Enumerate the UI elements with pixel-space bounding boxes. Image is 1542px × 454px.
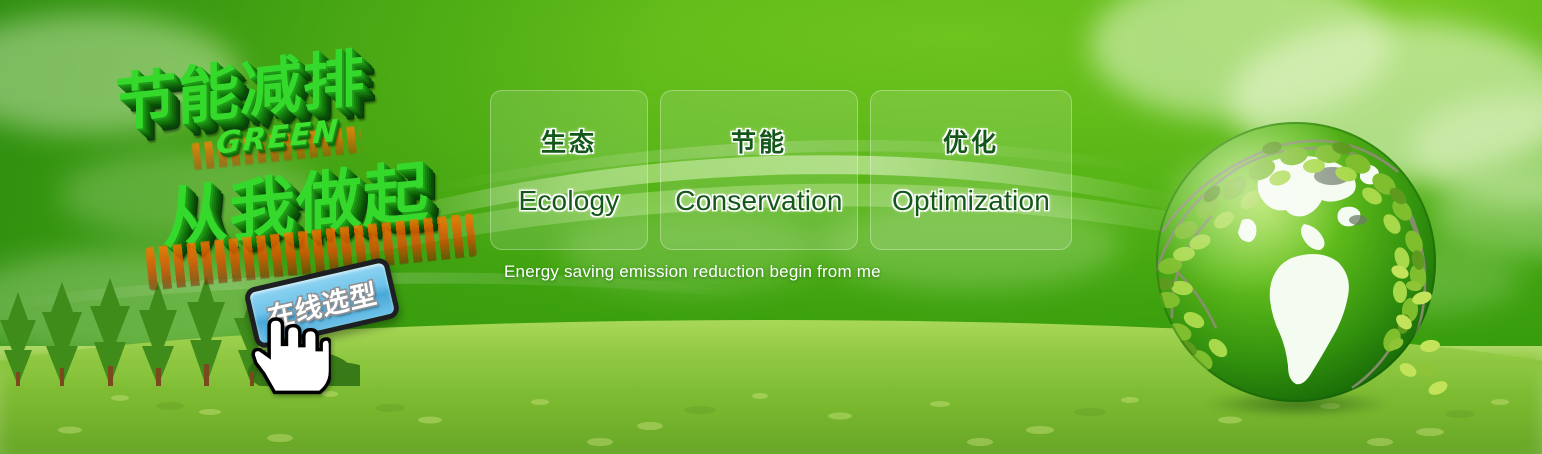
feature-card-cn-label: 节能 <box>731 123 787 159</box>
feature-card-optimization[interactable]: 优化 Optimization <box>870 90 1072 250</box>
falling-leaves-icon <box>1382 260 1502 410</box>
headline-artwork: 节能减排 GREEN 从我做起 <box>96 34 496 264</box>
feature-card-en-label: Conservation <box>675 185 842 217</box>
pointing-hand-cursor-icon <box>245 315 331 395</box>
feature-card-conservation[interactable]: 节能 Conservation <box>660 90 858 250</box>
feature-card-cn-label: 优化 <box>943 123 999 159</box>
tagline: Energy saving emission reduction begin f… <box>504 262 881 282</box>
feature-card-ecology[interactable]: 生态 Ecology <box>490 90 648 250</box>
feature-card-cn-label: 生态 <box>541 123 597 159</box>
leafy-green-globe-icon <box>1146 112 1446 412</box>
eco-banner: 节能减排 GREEN 从我做起 在线选型 生态 Ecology 节能 Conse… <box>0 0 1542 454</box>
feature-card-en-label: Ecology <box>518 185 619 217</box>
feature-cards: 生态 Ecology 节能 Conservation 优化 Optimizati… <box>490 90 1072 250</box>
feature-card-en-label: Optimization <box>892 185 1050 217</box>
